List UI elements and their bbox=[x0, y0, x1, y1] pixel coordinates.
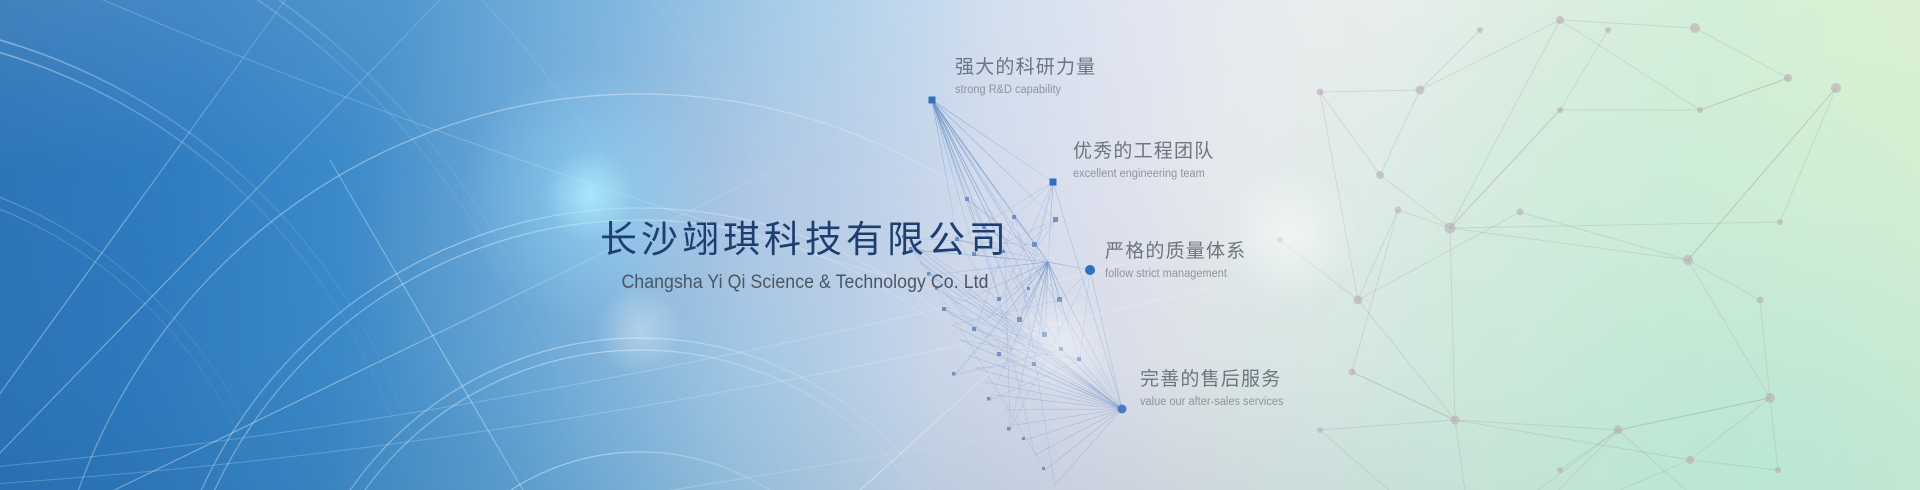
feature-title-cn-service: 完善的售后服务 bbox=[1140, 368, 1291, 392]
feature-title-cn-quality: 严格的质量体系 bbox=[1105, 240, 1246, 264]
company-name-chinese: 长沙翊琪科技有限公司 bbox=[595, 222, 1015, 261]
feature-title-cn-rd: 强大的科研力量 bbox=[955, 56, 1096, 80]
feature-label-rd: 强大的科研力量 strong R&D capability bbox=[955, 56, 1096, 96]
feature-title-en-rd: strong R&D capability bbox=[955, 84, 1089, 96]
feature-title-en-service: value our after-sales services bbox=[1140, 396, 1284, 408]
feature-title-en-team: excellent engineering team bbox=[1073, 168, 1207, 180]
company-title-block: 长沙翊琪科技有限公司 Changsha Yi Qi Science & Tech… bbox=[595, 222, 1015, 294]
feature-label-team: 优秀的工程团队 excellent engineering team bbox=[1073, 140, 1214, 180]
company-name-english: Changsha Yi Qi Science & Technology Co. … bbox=[610, 272, 1001, 294]
feature-label-quality: 严格的质量体系 follow strict management bbox=[1105, 240, 1246, 280]
feature-title-en-quality: follow strict management bbox=[1105, 268, 1239, 280]
feature-label-service: 完善的售后服务 value our after-sales services bbox=[1140, 368, 1291, 408]
feature-title-cn-team: 优秀的工程团队 bbox=[1073, 140, 1214, 164]
company-hero-banner: 长沙翊琪科技有限公司 Changsha Yi Qi Science & Tech… bbox=[0, 0, 1920, 490]
